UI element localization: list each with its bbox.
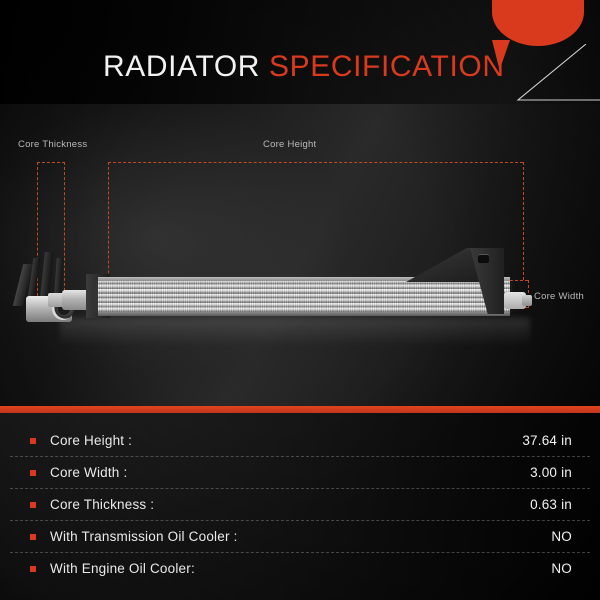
bullet-icon (30, 470, 36, 476)
page-title: RADIATOR SPECIFICATION (103, 50, 505, 84)
bullet-icon (30, 534, 36, 540)
label-core-thickness: Core Thickness (18, 139, 87, 150)
bullet-icon (30, 438, 36, 444)
title-primary: RADIATOR (103, 50, 260, 83)
spec-row: Core Width :3.00 in (10, 457, 590, 489)
spec-value: NO (551, 561, 572, 576)
height-bracket-top (108, 162, 523, 163)
bullet-icon (30, 566, 36, 572)
spec-value: NO (551, 529, 572, 544)
section-divider (0, 406, 600, 413)
spec-row: With Engine Oil Cooler:NO (10, 553, 590, 584)
thickness-bracket-top (37, 162, 65, 163)
spec-label: Core Height : (50, 433, 132, 448)
hairline-chevron-icon (498, 44, 600, 106)
spec-value: 3.00 in (530, 465, 572, 480)
core-fin-texture (98, 280, 510, 313)
spec-row: Core Height :37.64 in (10, 425, 590, 457)
spec-row: With Transmission Oil Cooler :NO (10, 521, 590, 553)
spec-value: 37.64 in (522, 433, 572, 448)
spec-sheet-page: RADIATOR SPECIFICATION Core Thickness Co… (0, 0, 600, 600)
core-bottom-rail (98, 312, 510, 316)
spec-label: Core Width : (50, 465, 127, 480)
spec-label: With Transmission Oil Cooler : (50, 529, 238, 544)
spec-label: Core Thickness : (50, 497, 154, 512)
spec-row: Core Thickness :0.63 in (10, 489, 590, 521)
bracket-mount-hole (478, 254, 489, 263)
spec-value: 0.63 in (530, 497, 572, 512)
title-accent: SPECIFICATION (269, 50, 505, 83)
outlet-neck-tip (522, 295, 532, 306)
radiator-product-image (0, 218, 600, 338)
bullet-icon (30, 502, 36, 508)
specification-table: Core Height :37.64 inCore Width :3.00 in… (0, 425, 600, 584)
label-core-height: Core Height (263, 139, 316, 150)
product-reflection (60, 318, 530, 346)
spec-label: With Engine Oil Cooler: (50, 561, 195, 576)
radiator-core (98, 280, 510, 313)
